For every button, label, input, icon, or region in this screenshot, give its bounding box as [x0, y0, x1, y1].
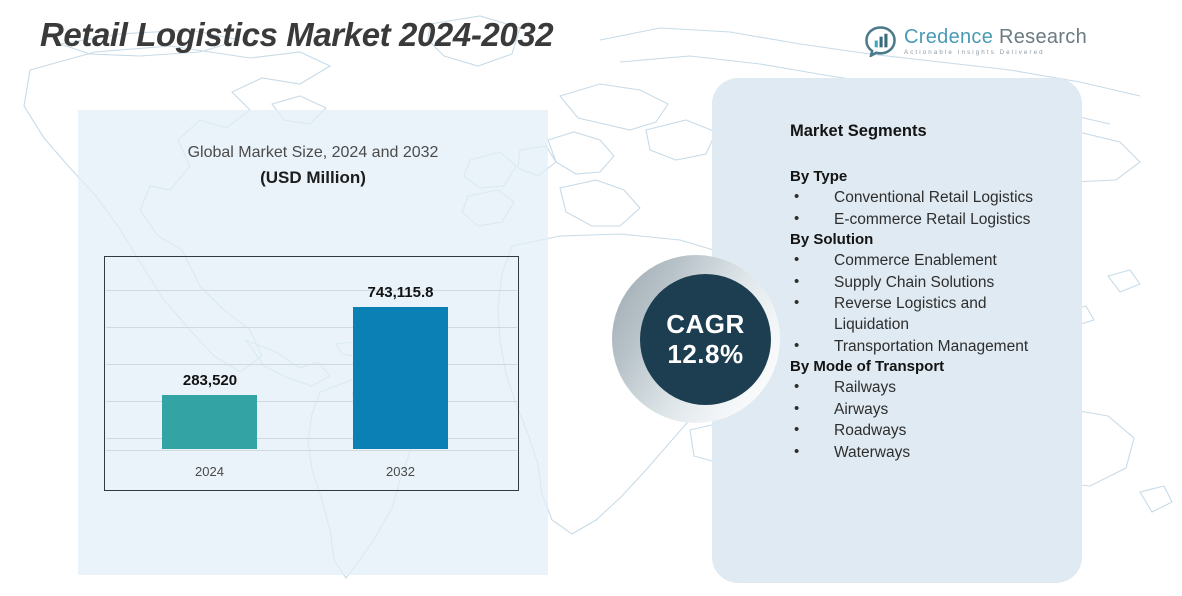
- segment-item: Airways: [790, 399, 1064, 420]
- bar-chart-speech-bubble-icon: [865, 26, 896, 57]
- cagr-value: 12.8%: [667, 341, 743, 368]
- cagr-circle: CAGR 12.8%: [640, 274, 771, 405]
- bar-value-2032: 743,115.8: [343, 284, 458, 301]
- segment-heading-0: By Type: [790, 167, 1064, 187]
- segment-list-0: Conventional Retail LogisticsE-commerce …: [790, 187, 1064, 230]
- x-axis-label-2032: 2032: [353, 464, 448, 479]
- credence-research-logo: Credence Research Actionable Insights De…: [865, 26, 1087, 57]
- segment-list-2: RailwaysAirwaysRoadwaysWaterways: [790, 377, 1064, 463]
- logo-text: Credence Research Actionable Insights De…: [904, 27, 1087, 56]
- x-axis-label-2024: 2024: [162, 464, 257, 479]
- bar-2032: [353, 307, 448, 449]
- page-title: Retail Logistics Market 2024-2032: [40, 16, 553, 54]
- segment-heading-1: By Solution: [790, 230, 1064, 250]
- gridline: [106, 327, 517, 328]
- segments-body: By TypeConventional Retail LogisticsE-co…: [790, 167, 1064, 463]
- cagr-badge: CAGR 12.8%: [612, 255, 792, 435]
- segment-item: Waterways: [790, 442, 1064, 463]
- segment-item: Commerce Enablement: [790, 250, 1064, 271]
- gridline: [106, 450, 517, 451]
- segments-title: Market Segments: [790, 122, 1064, 141]
- segment-item: Roadways: [790, 420, 1064, 441]
- segment-item: E-commerce Retail Logistics: [790, 209, 1064, 230]
- bar-2024: [162, 395, 257, 449]
- cagr-label: CAGR: [666, 311, 745, 338]
- gridline: [106, 364, 517, 365]
- logo-word-research: Research: [999, 26, 1087, 48]
- segment-heading-2: By Mode of Transport: [790, 357, 1064, 377]
- logo-word-credence: Credence: [904, 26, 993, 48]
- chart-subtitle: (USD Million): [78, 168, 548, 188]
- bar-chart-plot-area: 283,520 743,115.8 2024 2032: [104, 256, 519, 491]
- chart-panel: Global Market Size, 2024 and 2032 (USD M…: [78, 110, 548, 575]
- segment-item: Supply Chain Solutions: [790, 272, 1064, 293]
- segment-item: Conventional Retail Logistics: [790, 187, 1064, 208]
- segment-list-1: Commerce EnablementSupply Chain Solution…: [790, 250, 1064, 357]
- logo-company-name: Credence Research: [904, 27, 1087, 47]
- bar-value-2024: 283,520: [155, 372, 265, 389]
- segment-item: Reverse Logistics and Liquidation: [790, 293, 1064, 336]
- segment-item: Transportation Management: [790, 336, 1064, 357]
- chart-title: Global Market Size, 2024 and 2032: [78, 144, 548, 162]
- logo-tagline: Actionable Insights Delivered: [904, 50, 1087, 56]
- segment-item: Railways: [790, 377, 1064, 398]
